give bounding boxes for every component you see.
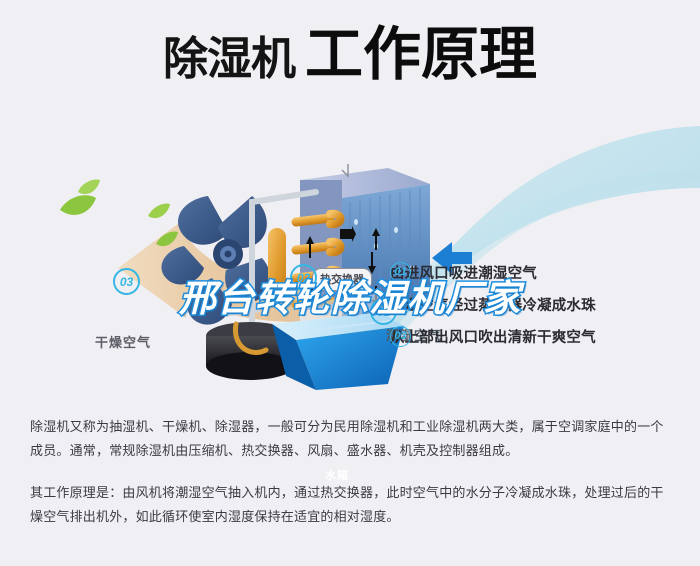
watermark-text: 邢台转轮除湿机厂家 [0, 268, 700, 322]
legend-text-03: 从上部出风口吹出清新干爽空气 [390, 326, 596, 347]
body-copy: 除湿机又称为抽湿机、干燥机、除湿器，一般可分为民用除湿机和工业除湿机两大类，属于… [30, 415, 675, 547]
page-title-prefix: 除湿机 [163, 33, 295, 84]
page-title: 除湿机工作原理 [0, 26, 700, 84]
badge-step-03: 03 [390, 326, 411, 347]
page-root: 除湿机工作原理 [0, 0, 700, 566]
legend-item-03: 03 从上部出风口吹出清新干爽空气 [390, 326, 690, 346]
leaf-icon [60, 195, 96, 215]
label-dry-air: 干燥空气 [95, 332, 151, 351]
body-paragraph-1: 除湿机又称为抽湿机、干燥机、除湿器，一般可分为民用除湿机和工业除湿机两大类，属于… [30, 415, 675, 463]
leaf-icon [78, 180, 100, 195]
leaf-icon [148, 204, 170, 219]
page-title-main: 工作原理 [305, 22, 537, 87]
body-paragraph-2: 其工作原理是：由风机将潮湿空气抽入机内，通过热交换器，此时空气中的水分子冷凝成水… [30, 481, 675, 529]
leaf-icon-group [60, 180, 178, 247]
